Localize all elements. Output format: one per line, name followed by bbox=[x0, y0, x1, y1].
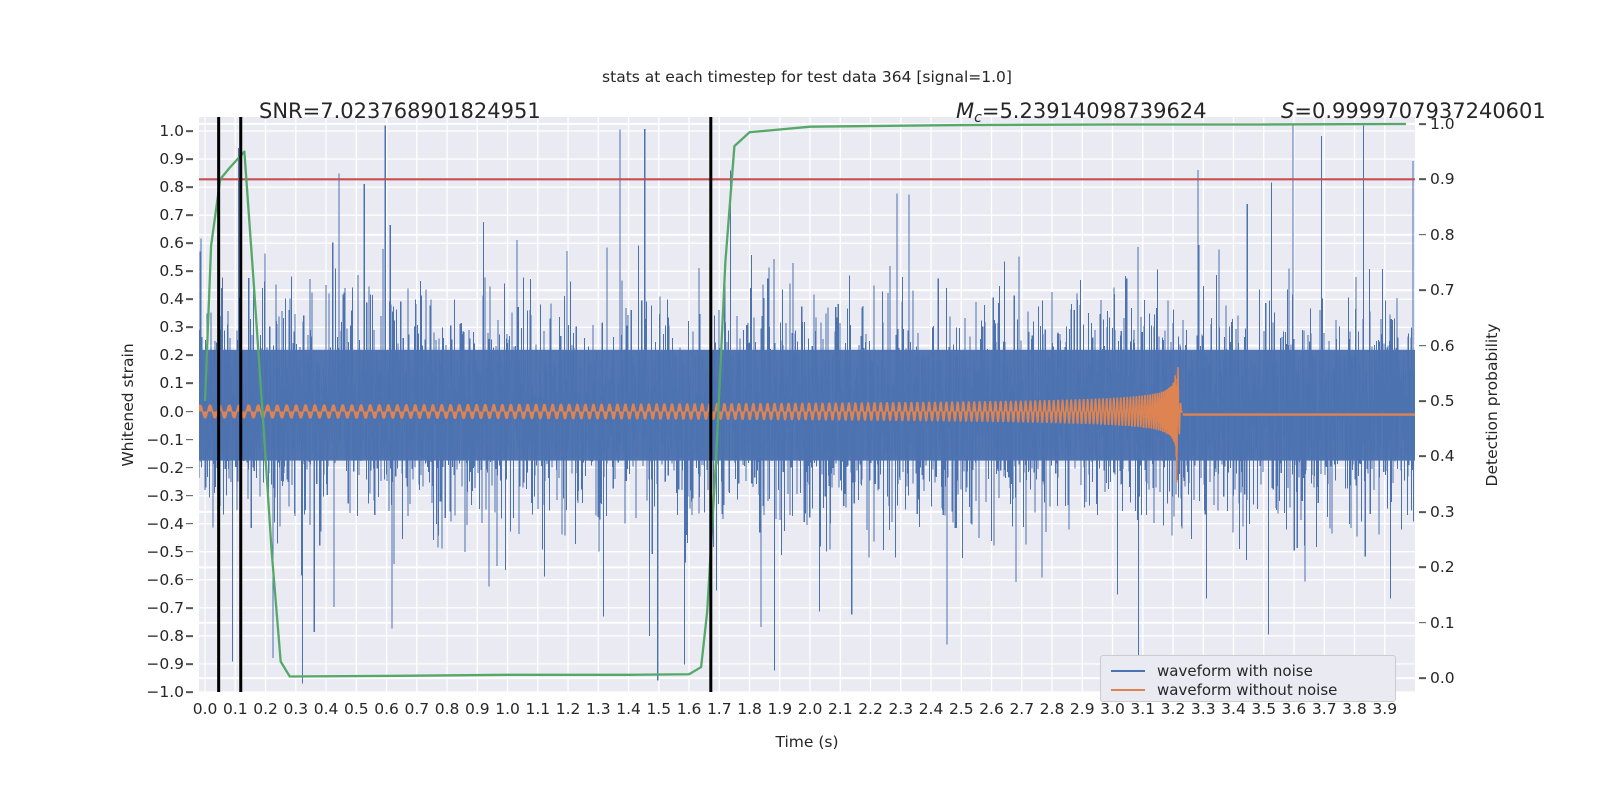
y-tick-left-3: 0.7 bbox=[128, 206, 184, 224]
gridline-h-right-8 bbox=[199, 566, 1415, 568]
x-tick-22: 2.2 bbox=[858, 700, 883, 718]
tick-mark-icon bbox=[186, 523, 193, 525]
tick-mark-icon bbox=[1419, 511, 1426, 513]
y-tick-left-8: 0.2 bbox=[128, 346, 184, 364]
tick-mark-icon bbox=[1419, 456, 1426, 458]
x-tick-8: 0.8 bbox=[435, 700, 460, 718]
x-tick-32: 3.2 bbox=[1161, 700, 1186, 718]
figure: stats at each timestep for test data 364… bbox=[0, 0, 1600, 800]
mc-subscript: c bbox=[974, 110, 982, 126]
x-tick-31: 3.1 bbox=[1130, 700, 1155, 718]
y-tick-left-15: −0.5 bbox=[128, 543, 184, 561]
y-tick-right-6: 0.4 bbox=[1430, 447, 1455, 465]
x-tick-15: 1.5 bbox=[646, 700, 671, 718]
tick-mark-icon bbox=[1419, 566, 1426, 568]
legend-label-1: waveform without noise bbox=[1157, 681, 1337, 699]
x-tick-36: 3.6 bbox=[1282, 700, 1307, 718]
score-label: S bbox=[1281, 99, 1294, 123]
x-tick-1: 0.1 bbox=[223, 700, 248, 718]
x-tick-20: 2.0 bbox=[798, 700, 823, 718]
score-value: 0.9999707937240601 bbox=[1312, 99, 1546, 123]
legend[interactable]: waveform with noise waveform without noi… bbox=[1100, 655, 1396, 702]
page-title: stats at each timestep for test data 364… bbox=[602, 68, 1012, 86]
y-tick-left-14: −0.4 bbox=[128, 515, 184, 533]
tick-mark-icon bbox=[186, 355, 193, 357]
tick-mark-icon bbox=[186, 607, 193, 609]
y-tick-left-19: −0.9 bbox=[128, 655, 184, 673]
x-tick-27: 2.7 bbox=[1009, 700, 1034, 718]
x-tick-30: 3.0 bbox=[1100, 700, 1125, 718]
x-tick-10: 1.0 bbox=[495, 700, 520, 718]
y-tick-left-0: 1.0 bbox=[128, 122, 184, 140]
x-tick-29: 2.9 bbox=[1070, 700, 1095, 718]
x-tick-21: 2.1 bbox=[828, 700, 853, 718]
y-tick-left-5: 0.5 bbox=[128, 262, 184, 280]
tick-mark-icon bbox=[186, 383, 193, 385]
x-tick-37: 3.7 bbox=[1312, 700, 1337, 718]
x-tick-5: 0.5 bbox=[344, 700, 369, 718]
y-tick-left-2: 0.8 bbox=[128, 178, 184, 196]
tick-mark-icon bbox=[186, 158, 193, 160]
tick-mark-icon bbox=[186, 214, 193, 216]
tick-mark-icon bbox=[186, 467, 193, 469]
y-axis-label-right: Detection probability bbox=[1483, 324, 1501, 487]
mc-equals: = bbox=[982, 99, 1000, 123]
x-tick-18: 1.8 bbox=[737, 700, 762, 718]
y-tick-left-17: −0.7 bbox=[128, 599, 184, 617]
annotation-score: S=0.9999707937240601 bbox=[1281, 99, 1546, 123]
tick-mark-icon bbox=[1419, 234, 1426, 236]
gridline-h-left-15 bbox=[199, 551, 1415, 552]
tick-mark-icon bbox=[186, 327, 193, 329]
legend-swatch-orange-icon bbox=[1111, 689, 1145, 691]
y-tick-right-3: 0.7 bbox=[1430, 281, 1455, 299]
x-tick-39: 3.9 bbox=[1372, 700, 1397, 718]
x-tick-38: 3.8 bbox=[1342, 700, 1367, 718]
mc-label: M bbox=[956, 99, 974, 123]
tick-mark-icon bbox=[186, 691, 193, 693]
legend-swatch-blue-icon bbox=[1111, 670, 1145, 672]
tick-mark-icon bbox=[186, 663, 193, 665]
gridline-h-left-17 bbox=[199, 607, 1415, 608]
tick-mark-icon bbox=[1419, 179, 1426, 181]
x-tick-7: 0.7 bbox=[404, 700, 429, 718]
y-tick-left-1: 0.9 bbox=[128, 150, 184, 168]
legend-item-waveform-with-noise[interactable]: waveform with noise bbox=[1111, 662, 1385, 680]
y-tick-left-16: −0.6 bbox=[128, 571, 184, 589]
x-tick-17: 1.7 bbox=[707, 700, 732, 718]
y-tick-right-8: 0.2 bbox=[1430, 558, 1455, 576]
y-tick-right-10: 0.0 bbox=[1430, 669, 1455, 687]
x-tick-12: 1.2 bbox=[556, 700, 581, 718]
gridline-h-right-3 bbox=[199, 289, 1415, 291]
y-tick-left-18: −0.8 bbox=[128, 627, 184, 645]
tick-mark-icon bbox=[186, 551, 193, 553]
tick-mark-icon bbox=[186, 411, 193, 413]
x-axis-label: Time (s) bbox=[775, 733, 838, 751]
gridline-h-left-16 bbox=[199, 579, 1415, 580]
y-tick-left-13: −0.3 bbox=[128, 487, 184, 505]
score-equals: = bbox=[1294, 99, 1312, 123]
y-tick-left-20: −1.0 bbox=[128, 683, 184, 701]
tick-mark-icon bbox=[1419, 289, 1426, 291]
x-tick-35: 3.5 bbox=[1251, 700, 1276, 718]
y-tick-left-10: 0.0 bbox=[128, 403, 184, 421]
y-tick-right-2: 0.8 bbox=[1430, 226, 1455, 244]
y-tick-left-11: −0.1 bbox=[128, 431, 184, 449]
plot-area[interactable] bbox=[199, 117, 1415, 692]
x-tick-6: 0.6 bbox=[374, 700, 399, 718]
gridline-h-left-18 bbox=[199, 635, 1415, 636]
y-tick-right-9: 0.1 bbox=[1430, 614, 1455, 632]
x-tick-13: 1.3 bbox=[586, 700, 611, 718]
gridline-h-left-5 bbox=[199, 271, 1415, 272]
gridline-h-left-6 bbox=[199, 299, 1415, 300]
x-tick-26: 2.6 bbox=[979, 700, 1004, 718]
x-tick-4: 0.4 bbox=[314, 700, 339, 718]
gridline-h-right-9 bbox=[199, 622, 1415, 624]
tick-mark-icon bbox=[1419, 345, 1426, 347]
y-tick-right-1: 0.9 bbox=[1430, 170, 1455, 188]
tick-mark-icon bbox=[1419, 622, 1426, 624]
y-tick-left-12: −0.2 bbox=[128, 459, 184, 477]
gridline-h-left-2 bbox=[199, 186, 1415, 187]
plot-canvas bbox=[199, 117, 1415, 692]
tick-mark-icon bbox=[186, 130, 193, 132]
y-tick-right-4: 0.6 bbox=[1430, 337, 1455, 355]
gridline-h-right-2 bbox=[199, 234, 1415, 236]
x-tick-14: 1.4 bbox=[616, 700, 641, 718]
tick-mark-icon bbox=[186, 635, 193, 637]
x-tick-24: 2.4 bbox=[919, 700, 944, 718]
gridline-h-left-4 bbox=[199, 243, 1415, 244]
x-tick-25: 2.5 bbox=[949, 700, 974, 718]
x-tick-23: 2.3 bbox=[888, 700, 913, 718]
y-tick-right-7: 0.3 bbox=[1430, 503, 1455, 521]
gridline-h-left-0 bbox=[199, 130, 1415, 131]
x-tick-34: 3.4 bbox=[1221, 700, 1246, 718]
x-tick-28: 2.8 bbox=[1040, 700, 1065, 718]
x-tick-3: 0.3 bbox=[283, 700, 308, 718]
legend-item-waveform-without-noise[interactable]: waveform without noise bbox=[1111, 681, 1385, 699]
y-tick-right-5: 0.5 bbox=[1430, 392, 1455, 410]
y-tick-left-9: 0.1 bbox=[128, 374, 184, 392]
snr-value: 7.023768901824951 bbox=[320, 99, 540, 123]
y-tick-left-6: 0.4 bbox=[128, 290, 184, 308]
tick-mark-icon bbox=[186, 495, 193, 497]
y-tick-left-4: 0.6 bbox=[128, 234, 184, 252]
tick-mark-icon bbox=[186, 242, 193, 244]
y-tick-left-7: 0.3 bbox=[128, 318, 184, 336]
mc-value: 5.23914098739624 bbox=[999, 99, 1206, 123]
tick-mark-icon bbox=[186, 298, 193, 300]
tick-mark-icon bbox=[186, 186, 193, 188]
gridline-h-left-3 bbox=[199, 215, 1415, 216]
tick-mark-icon bbox=[186, 439, 193, 441]
x-tick-11: 1.1 bbox=[525, 700, 550, 718]
annotation-chirp-mass: Mc=5.23914098739624 bbox=[956, 99, 1207, 126]
x-tick-2: 0.2 bbox=[253, 700, 278, 718]
tick-mark-icon bbox=[1419, 123, 1426, 125]
x-tick-33: 3.3 bbox=[1191, 700, 1216, 718]
x-tick-16: 1.6 bbox=[677, 700, 702, 718]
noise-core-band bbox=[199, 350, 1415, 461]
annotation-snr: SNR=7.023768901824951 bbox=[259, 99, 541, 123]
gridline-h-left-1 bbox=[199, 158, 1415, 159]
x-tick-0: 0.0 bbox=[193, 700, 218, 718]
x-tick-9: 0.9 bbox=[465, 700, 490, 718]
tick-mark-icon bbox=[1419, 677, 1426, 679]
legend-label-0: waveform with noise bbox=[1157, 662, 1313, 680]
x-tick-19: 1.9 bbox=[767, 700, 792, 718]
tick-mark-icon bbox=[186, 579, 193, 581]
tick-mark-icon bbox=[186, 270, 193, 272]
snr-label: SNR= bbox=[259, 99, 320, 123]
tick-mark-icon bbox=[1419, 400, 1426, 402]
